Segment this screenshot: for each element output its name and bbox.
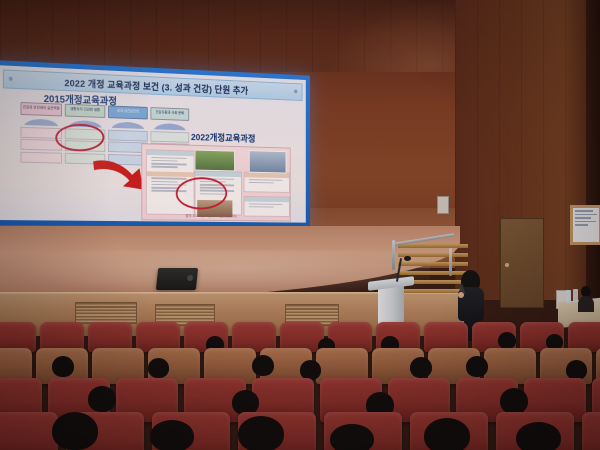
- projection-screen-frame: 2022 개정 교육과정 보건 (3. 성과 건강) 단원 추가 2015개정교…: [0, 60, 310, 227]
- person-head: [150, 420, 194, 450]
- person-head: [466, 356, 488, 377]
- stair-post: [449, 248, 452, 276]
- audience-member: [466, 356, 492, 380]
- toc-line: [249, 179, 282, 181]
- stage-vent-grille: [75, 302, 137, 324]
- toc-page-right-top: [244, 172, 290, 193]
- audience-member: [252, 355, 278, 379]
- toc-line: [151, 187, 177, 189]
- auditorium-seat[interactable]: [0, 412, 58, 450]
- side-door[interactable]: [500, 218, 544, 308]
- toc-line: [249, 206, 274, 208]
- water-bottle: [566, 290, 571, 303]
- column-cell: [150, 131, 189, 143]
- seated-staff: [578, 286, 594, 310]
- wall-notice-board: [570, 205, 600, 245]
- toc-line: [249, 203, 282, 205]
- audience-member-front: [52, 412, 106, 450]
- toc-line: [151, 157, 186, 159]
- audience-member-front: [516, 422, 570, 450]
- toc-page-right-bottom: [244, 196, 290, 217]
- person-head: [252, 355, 274, 376]
- slide-source-note: 출처: 2022개정 고등학교 보건교과서 목차: [186, 213, 237, 218]
- person-head: [300, 360, 321, 380]
- toc-line: [151, 181, 177, 183]
- audience-member-front: [238, 416, 292, 450]
- column-cell: [108, 129, 148, 141]
- projection-screen: 2022 개정 교육과정 보건 (3. 성과 건강) 단원 추가 2015개정교…: [0, 65, 306, 222]
- toc-header-bar: [147, 171, 194, 177]
- toc-line: [151, 163, 186, 165]
- stage-light-reflection: [0, 250, 430, 296]
- audience-member-front: [330, 424, 384, 450]
- person-head: [566, 360, 587, 380]
- audience-member-front: [424, 418, 478, 450]
- column-head-label: 성과 성건강관리: [108, 105, 148, 119]
- textbook-photo-students-group: [249, 150, 287, 173]
- person-head: [410, 357, 432, 378]
- slide-heading-2022: 2022개정교육과정: [191, 130, 255, 145]
- floor-monitor-speaker: [156, 268, 198, 290]
- toc-header-bar: [147, 150, 194, 156]
- person-head: [52, 356, 74, 377]
- microphone-head-icon: [404, 256, 411, 261]
- person-head: [498, 332, 516, 349]
- column-cell: [20, 151, 61, 163]
- toc-line: [151, 166, 177, 168]
- person-shoulders: [578, 296, 594, 312]
- column-arc-icon: [108, 120, 148, 129]
- toc-line: [249, 182, 274, 184]
- person-head: [330, 424, 374, 450]
- column-head-label: 생활속의 건강한 생활: [65, 104, 106, 118]
- person-head: [516, 422, 561, 450]
- column-head-label: 건강자원과 사회 문화: [150, 107, 189, 121]
- person-head: [238, 416, 284, 450]
- presenter-hand: [458, 292, 464, 298]
- textbook-spread: 출처: 2022개정 고등학교 보건교과서 목차: [141, 143, 290, 221]
- slide-bullet-right-icon: [294, 90, 297, 94]
- auditorium-seat[interactable]: [582, 412, 600, 450]
- door-handle-icon[interactable]: [505, 263, 509, 267]
- person-head: [424, 418, 470, 450]
- red-arrow-icon: [91, 155, 148, 195]
- toc-line: [151, 178, 186, 180]
- person-head: [500, 388, 528, 414]
- person-head: [52, 412, 98, 450]
- audience-member-front: [150, 420, 204, 450]
- textbook-photo-students-outdoor: [195, 150, 235, 172]
- column-arc-icon: [150, 121, 189, 130]
- toc-header-bar: [245, 197, 289, 202]
- stair-post: [392, 240, 395, 270]
- person-head: [88, 386, 116, 412]
- auditorium-photo: 2022 개정 교육과정 보건 (3. 성과 건강) 단원 추가 2015개정교…: [0, 0, 600, 450]
- slide-bullet-left-icon: [9, 77, 13, 81]
- column-arc-icon: [20, 117, 61, 126]
- column-head-label: 건강과 안전에의 실천역량: [20, 102, 61, 116]
- wall-control-plate[interactable]: [437, 196, 449, 214]
- audience-member: [52, 356, 78, 380]
- person-head: [148, 358, 169, 378]
- toc-line: [151, 160, 177, 162]
